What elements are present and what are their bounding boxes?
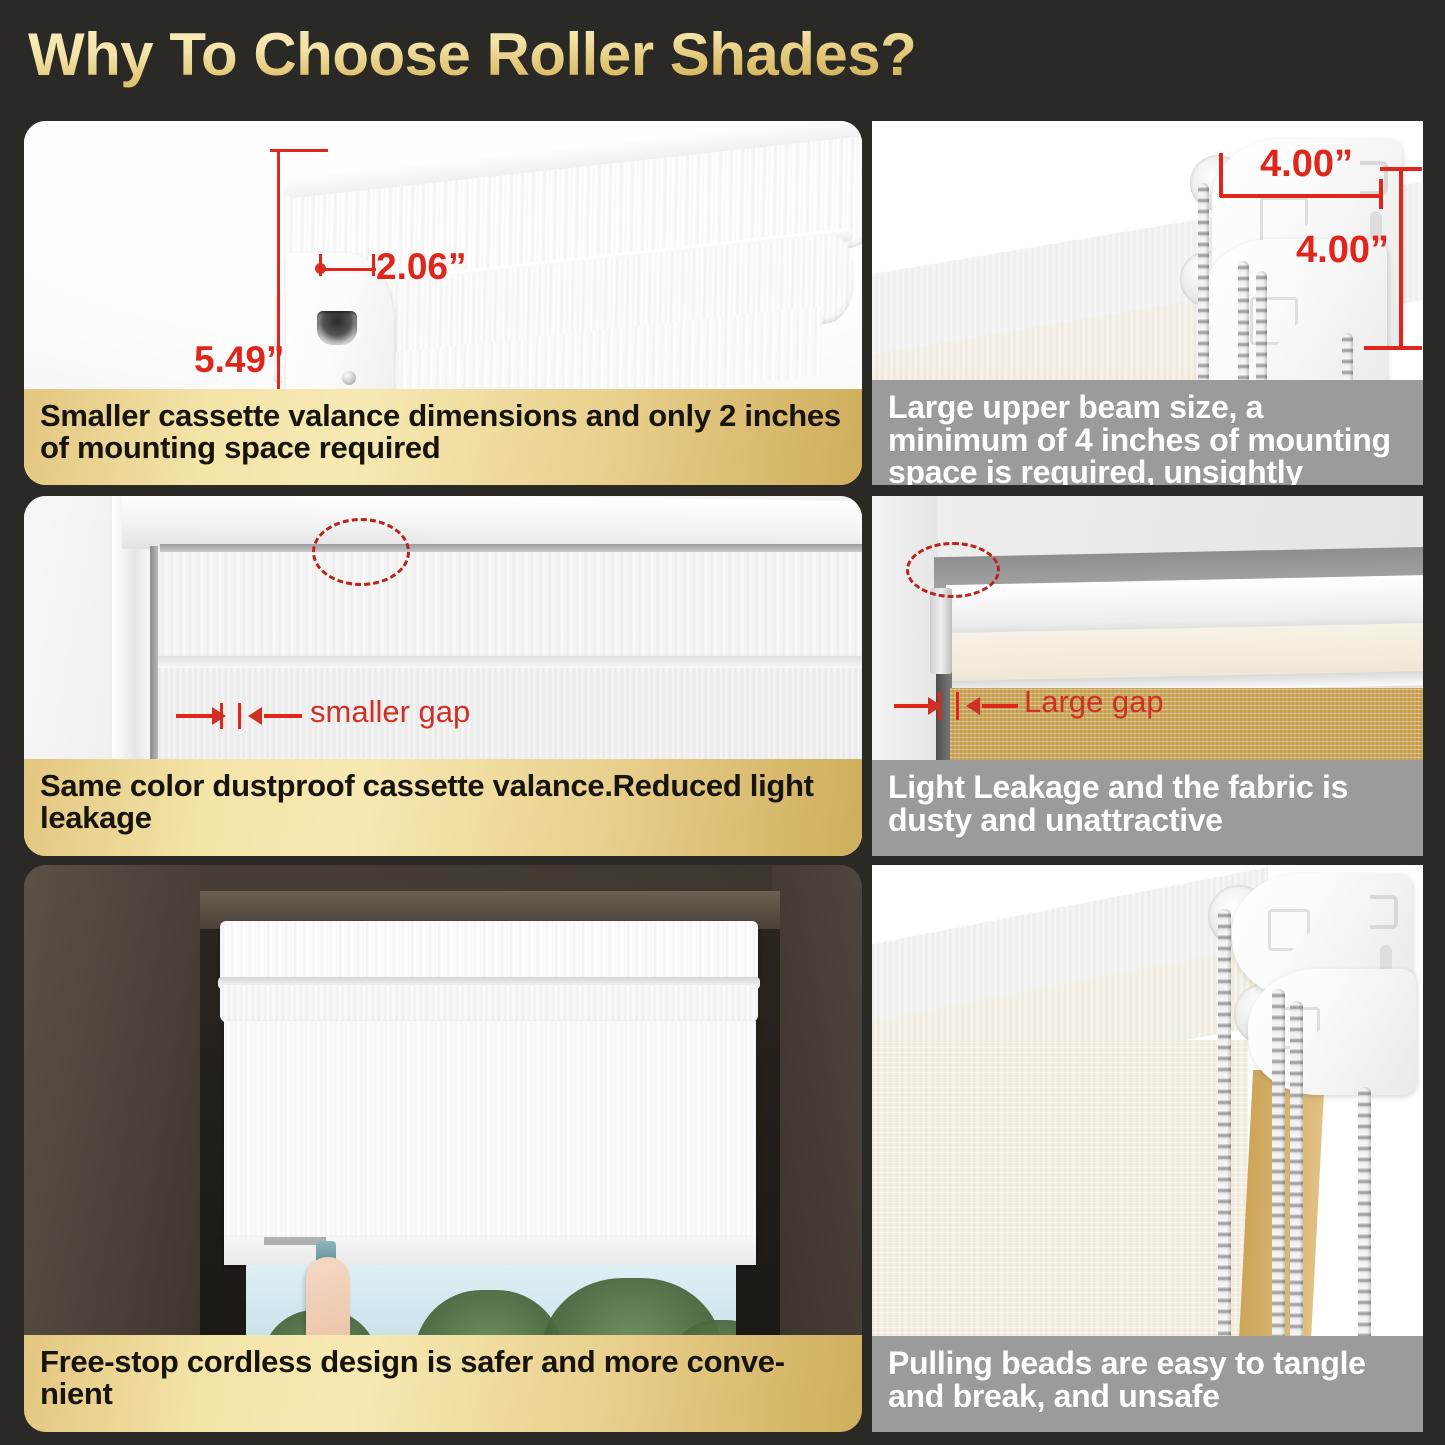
beam-height-tick-top [1380, 167, 1422, 171]
width-dim-tick-left [319, 254, 322, 276]
panel-caption-con-1: Large upper beam size, a minimum of 4 in… [872, 380, 1423, 485]
gap-arrow-head-left [212, 707, 226, 725]
beam-height-label: 4.00” [1296, 229, 1389, 272]
panel-pulling-beads: Pulling beads are easy to tangle and bre… [872, 865, 1423, 1432]
valance-face [160, 552, 862, 660]
end-cap-screw [342, 371, 356, 385]
roller-shade-fabric [224, 1021, 756, 1245]
gap-arrow-shaft-right [264, 714, 302, 718]
end-cap-slot [317, 311, 357, 345]
height-dimension-label: 5.49” [194, 339, 285, 381]
beam-width-label: 4.00” [1260, 143, 1353, 186]
page-title: Why To Choose Roller Shades? [28, 20, 916, 89]
gap-arrow-head-left [928, 697, 942, 715]
caption-text: Large upper beam size, a minimum of 4 in… [888, 391, 1407, 485]
gap-callout-label: Large gap [1024, 684, 1164, 720]
width-dim-tick-right [372, 254, 375, 276]
gap-arrow-shaft-left [894, 704, 930, 708]
panel-large-upper-beam: 4.00” 4.00” Large upper beam size, a min… [872, 121, 1423, 485]
gap-arrow-head-right [966, 697, 980, 715]
mounting-clip [930, 588, 952, 674]
panel-caption-pro-1: Smaller cassette valance dimensions and … [24, 389, 862, 485]
beam-width-dim-line [1220, 194, 1382, 198]
beam-width-tick-left [1219, 153, 1223, 197]
beam-height-tick-bottom [1364, 346, 1422, 350]
panel-caption-con-2: Light Leakage and the fabric is dusty an… [872, 760, 1423, 856]
caption-text: Smaller cassette valance dimensions and … [40, 400, 846, 463]
cassette-valance [220, 921, 758, 983]
bracket-hook [1370, 895, 1398, 929]
comparison-grid: 5.49” 2.06” Smaller cassette valance dim… [0, 108, 1445, 1445]
gap-callout-label: smaller gap [310, 694, 470, 730]
caption-text: Free-stop cordless design is safer and m… [40, 1346, 846, 1409]
panel-caption-pro-2: Same color dustproof cassette valance.Re… [24, 759, 862, 856]
gap-edge-marker-right [238, 703, 241, 729]
width-dimension-label: 2.06” [376, 246, 467, 288]
gap-edge-marker-right [956, 692, 959, 720]
panel-caption-con-3: Pulling beads are easy to tangle and bre… [872, 1336, 1423, 1432]
panel-cassette-valance: 5.49” 2.06” Smaller cassette valance dim… [24, 121, 862, 485]
cassette-lower-shell [220, 985, 758, 1023]
header: Why To Choose Roller Shades? [0, 0, 1445, 108]
bracket-arrow-mark [1268, 909, 1310, 951]
width-dim-line [320, 268, 376, 271]
gap-arrow-shaft-left [176, 714, 214, 718]
highlight-ellipse-icon [906, 542, 1000, 598]
caption-text: Same color dustproof cassette valance.Re… [40, 770, 846, 833]
panel-caption-pro-3: Free-stop cordless design is safer and m… [24, 1335, 862, 1432]
panel-dustproof-valance: smaller gap Same color dustproof cassett… [24, 496, 862, 856]
caption-text: Light Leakage and the fabric is dusty an… [888, 771, 1407, 836]
gap-arrow-head-right [248, 707, 262, 725]
beam-width-tick-right [1379, 179, 1383, 209]
highlight-ellipse-icon [312, 518, 410, 586]
height-dim-tick-top [270, 149, 328, 152]
gap-arrow-shaft-right [982, 704, 1018, 708]
panel-free-stop-cordless: Free-stop cordless design is safer and m… [24, 865, 862, 1432]
beam-height-dim-line [1399, 167, 1403, 349]
caption-text: Pulling beads are easy to tangle and bre… [888, 1347, 1407, 1412]
panel-light-leakage: Large gap Light Leakage and the fabric i… [872, 496, 1423, 856]
